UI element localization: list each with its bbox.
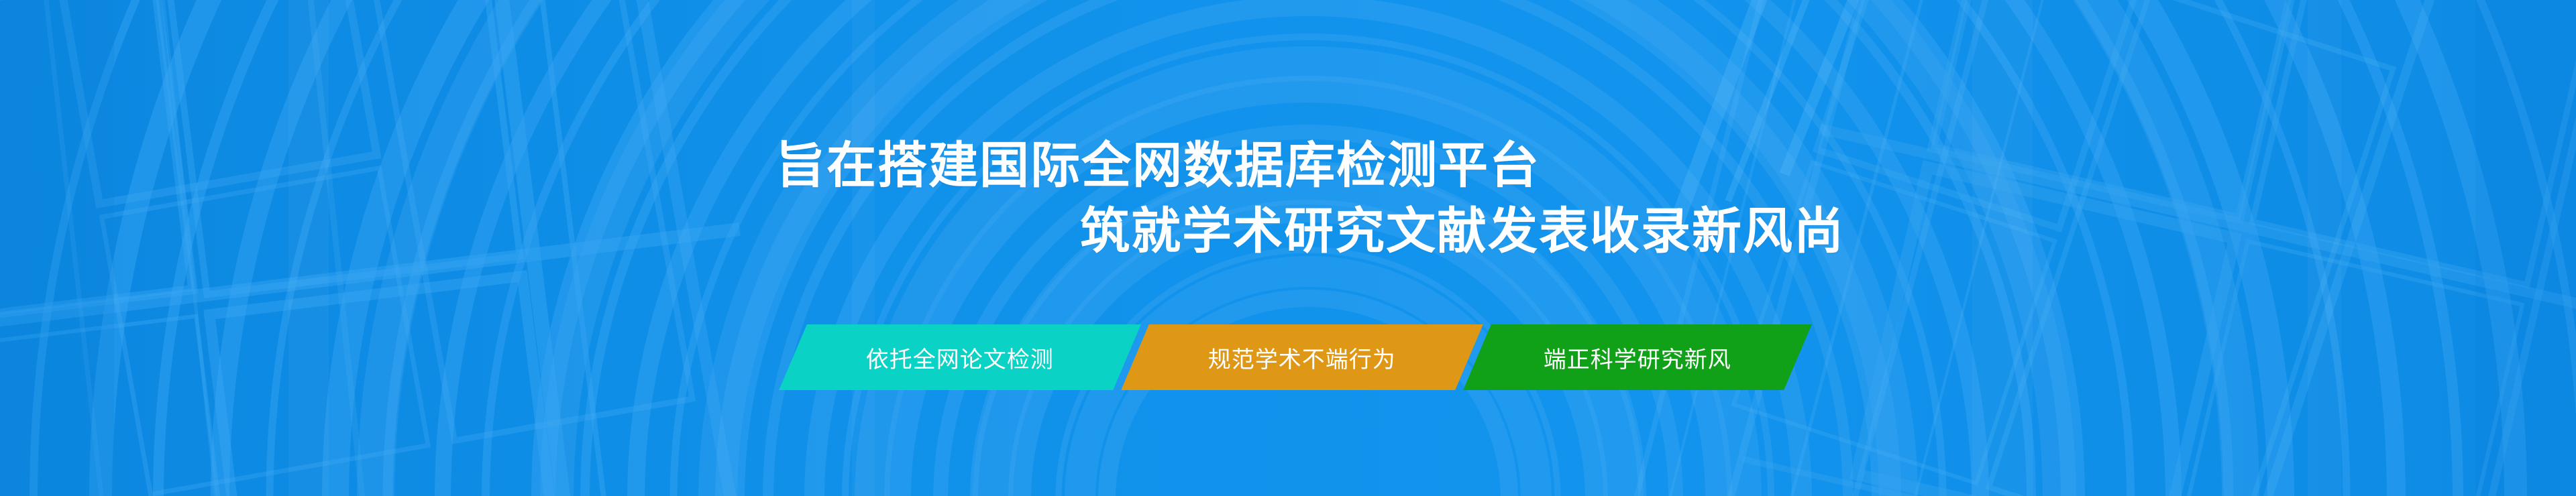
feature-tab-research-ethos[interactable]: 端正科学研究新风: [1463, 324, 1812, 390]
feature-tab-research-ethos-label: 端正科学研究新风: [1544, 341, 1731, 374]
feature-tab-paper-detection-label: 依托全网论文检测: [866, 341, 1054, 374]
feature-tab-misconduct-regulation-label: 规范学术不端行为: [1208, 341, 1396, 374]
promo-banner: 旨在搭建国际全网数据库检测平台 筑就学术研究文献发表收录新风尚 依托全网论文检测…: [0, 0, 2576, 496]
feature-tab-misconduct-regulation[interactable]: 规范学术不端行为: [1121, 324, 1483, 390]
feature-tab-paper-detection[interactable]: 依托全网论文检测: [779, 324, 1141, 390]
feature-tab-group: 依托全网论文检测 规范学术不端行为 端正科学研究新风: [0, 324, 2576, 391]
background-pattern: [0, 0, 2576, 496]
